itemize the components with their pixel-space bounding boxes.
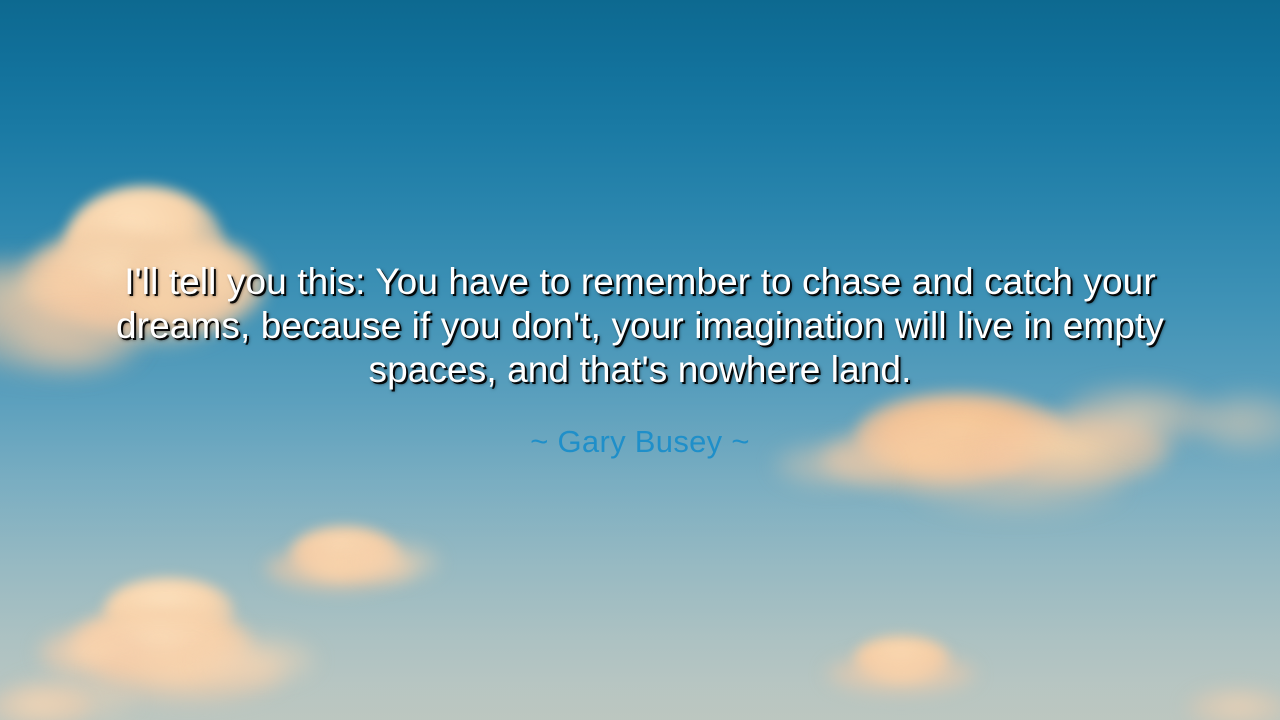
quote-image-canvas: I'll tell you this: You have to remember… xyxy=(0,0,1280,720)
quote-attribution-text: ~ Gary Busey ~ xyxy=(530,424,750,460)
quote-body-text: I'll tell you this: You have to remember… xyxy=(95,260,1185,392)
quote-text-overlay: I'll tell you this: You have to remember… xyxy=(0,0,1280,720)
